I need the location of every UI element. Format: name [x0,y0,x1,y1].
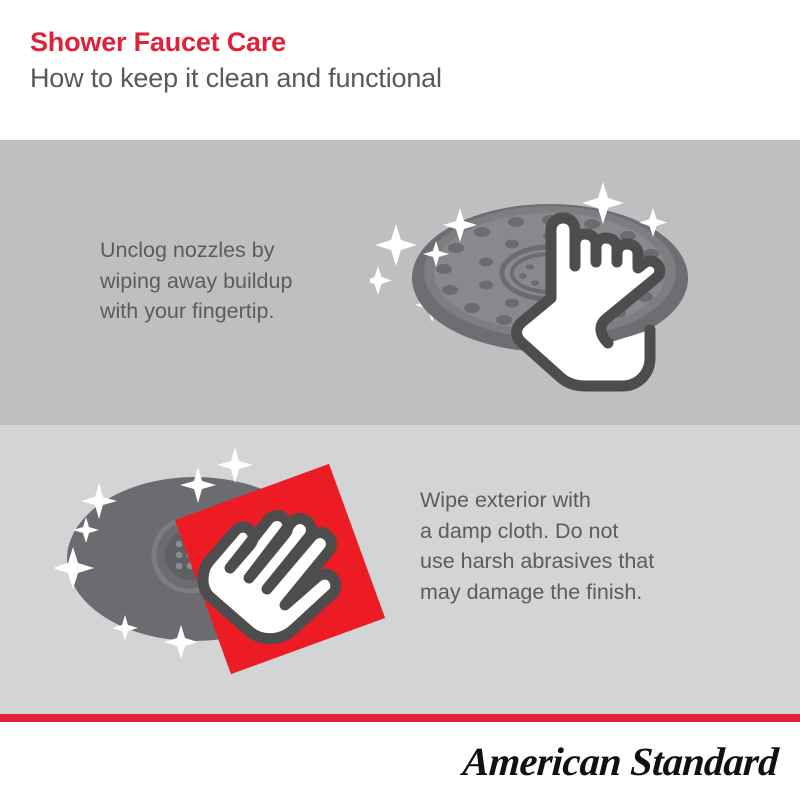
page-subtitle: How to keep it clean and functional [30,62,800,96]
panel-wipe-exterior: Wipe exterior with a damp cloth. Do not … [0,425,800,714]
header: Shower Faucet Care How to keep it clean … [0,0,800,140]
sparkle-icon [217,447,253,483]
page-title: Shower Faucet Care [30,28,800,58]
footer: American Standard [0,722,800,800]
panel-unclog-nozzles: Unclog nozzles by wiping away buildup wi… [0,140,800,425]
american-standard-logo: American Standard [461,738,779,785]
footer-red-rule [0,714,800,722]
showerhead-face-illustration [370,170,730,400]
sparkle-icon [375,224,417,266]
panel-one-instruction-text: Unclog nozzles by wiping away buildup wi… [100,235,380,327]
showerhead-cloth-illustration [55,437,405,687]
sparkle-icon [370,266,392,295]
panel-two-instruction-text: Wipe exterior with a damp cloth. Do not … [420,485,730,607]
infographic-canvas: Shower Faucet Care How to keep it clean … [0,0,800,800]
